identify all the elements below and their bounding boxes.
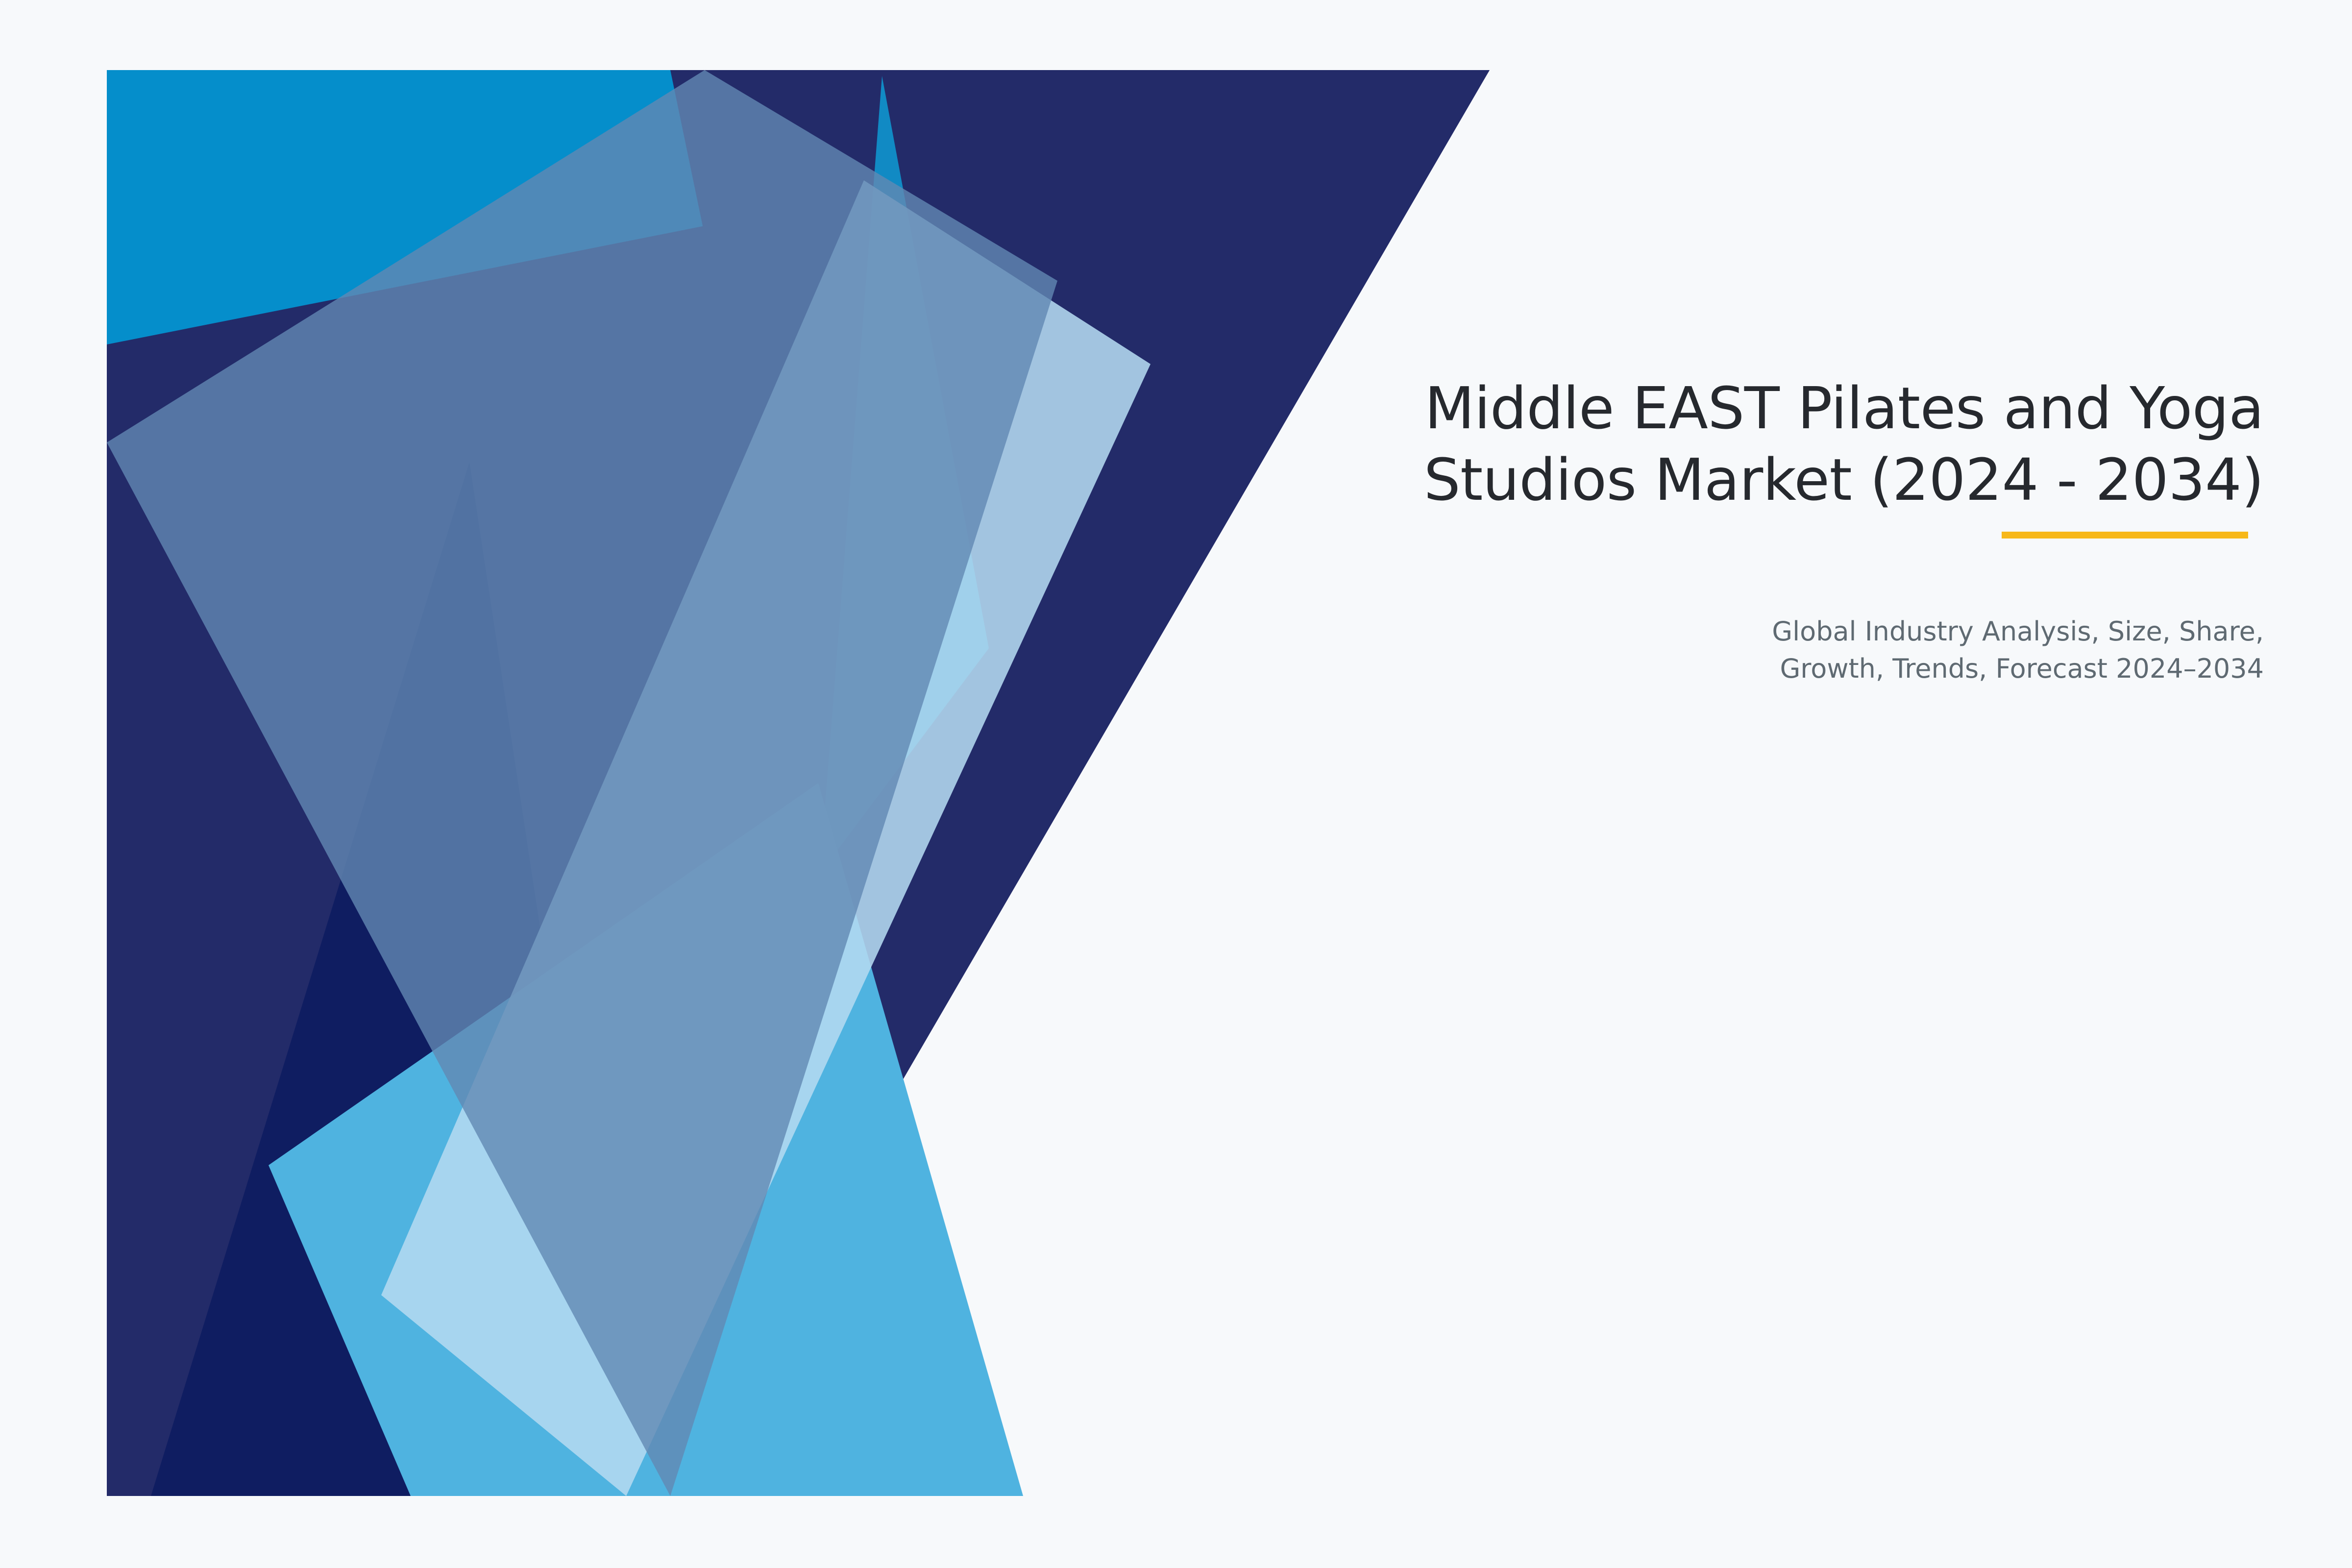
abstract-geometric-polygons-svg xyxy=(107,70,1494,1496)
page-title-line-2: Studios Market (2024 - 2034) xyxy=(1424,446,2264,514)
cover-artwork xyxy=(107,70,1494,1496)
page-subtitle-line-1: Global Industry Analysis, Size, Share, xyxy=(1772,616,2264,647)
page-subtitle: Global Industry Analysis, Size, Share,Gr… xyxy=(1142,516,2264,688)
title-wrapper: Middle EAST Pilates and YogaStudios Mark… xyxy=(1142,372,2264,516)
page-title-line-1: Middle EAST Pilates and Yoga xyxy=(1424,374,2264,442)
page-title: Middle EAST Pilates and YogaStudios Mark… xyxy=(1142,372,2264,516)
page-subtitle-line-2: Growth, Trends, Forecast 2024–2034 xyxy=(1780,653,2264,684)
report-cover: Middle EAST Pilates and YogaStudios Mark… xyxy=(0,0,2352,1568)
title-accent-underline xyxy=(2002,532,2248,539)
cover-text-column: Middle EAST Pilates and YogaStudios Mark… xyxy=(1142,372,2264,688)
